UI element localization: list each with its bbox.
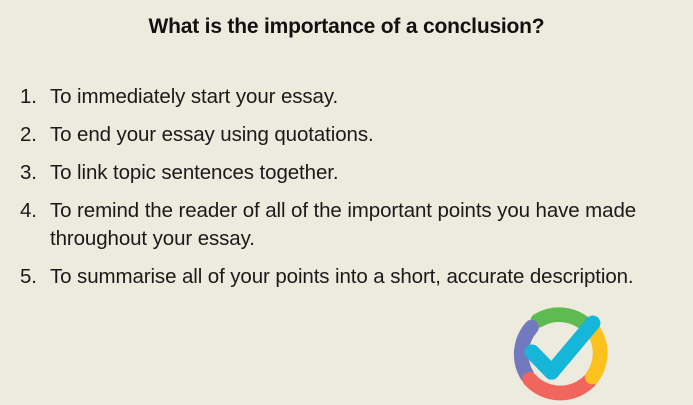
slide-canvas: What is the importance of a conclusion? …	[0, 0, 693, 405]
answer-options-list: 1. To immediately start your essay. 2. T…	[0, 83, 693, 291]
list-item-label: To link topic sentences together.	[50, 159, 671, 187]
list-item-label: To remind the reader of all of the impor…	[50, 197, 671, 253]
page-title: What is the importance of a conclusion?	[0, 14, 693, 40]
list-item: 5. To summarise all of your points into …	[0, 263, 693, 291]
list-item-number: 2.	[20, 121, 46, 149]
list-item-label: To summarise all of your points into a s…	[50, 263, 671, 291]
list-item-label: To immediately start your essay.	[50, 83, 671, 111]
list-item: 4. To remind the reader of all of the im…	[0, 197, 693, 253]
list-item-label: To end your essay using quotations.	[50, 121, 671, 149]
list-item-number: 3.	[20, 159, 46, 187]
list-item: 1. To immediately start your essay.	[0, 83, 693, 111]
list-item-number: 5.	[20, 263, 46, 291]
list-item-number: 1.	[20, 83, 46, 111]
list-item-number: 4.	[20, 197, 46, 225]
checkmark-ring-logo-icon	[511, 306, 609, 404]
list-item: 2. To end your essay using quotations.	[0, 121, 693, 149]
list-item: 3. To link topic sentences together.	[0, 159, 693, 187]
